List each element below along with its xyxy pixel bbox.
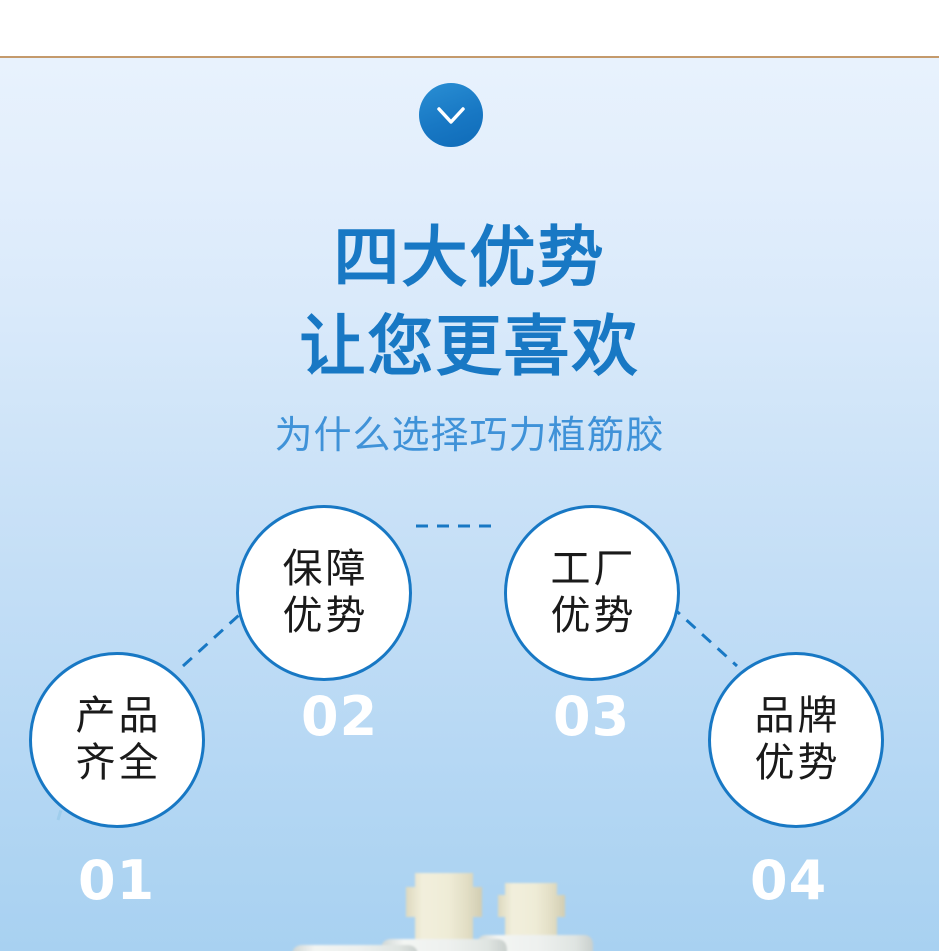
chevron-down-icon <box>419 83 483 147</box>
advantage-circle-03[interactable]: 工厂 优势 <box>504 505 680 681</box>
step-number-01: 01 <box>78 854 155 908</box>
top-white-strip <box>0 0 939 57</box>
advantage-label-line1: 产品 <box>73 693 162 740</box>
advantages-infographic-page: 四大优势 让您更喜欢 为什么选择巧力植筋胶 产品 齐全 保障 优势 工厂 优势 … <box>0 0 939 951</box>
advantage-label-line1: 品牌 <box>752 693 841 740</box>
advantage-label-line2: 优势 <box>280 593 369 640</box>
scroll-down-button[interactable] <box>419 83 483 147</box>
advantage-circle-04[interactable]: 品牌 优势 <box>708 652 884 828</box>
advantage-label-line2: 优势 <box>548 593 637 640</box>
advantage-label-line2: 齐全 <box>73 740 162 787</box>
advantage-label-line1: 保障 <box>280 546 369 593</box>
advantage-label-line1: 工厂 <box>548 546 637 593</box>
step-number-04: 04 <box>750 854 827 908</box>
connector-03-04 <box>671 606 737 666</box>
step-number-03: 03 <box>553 690 630 744</box>
advantage-label-line2: 优势 <box>752 740 841 787</box>
main-gradient-panel: 四大优势 让您更喜欢 为什么选择巧力植筋胶 产品 齐全 保障 优势 工厂 优势 … <box>0 58 939 951</box>
advantage-circle-02[interactable]: 保障 优势 <box>236 505 412 681</box>
advantage-circle-01[interactable]: 产品 齐全 <box>29 652 205 828</box>
step-number-02: 02 <box>301 690 378 744</box>
